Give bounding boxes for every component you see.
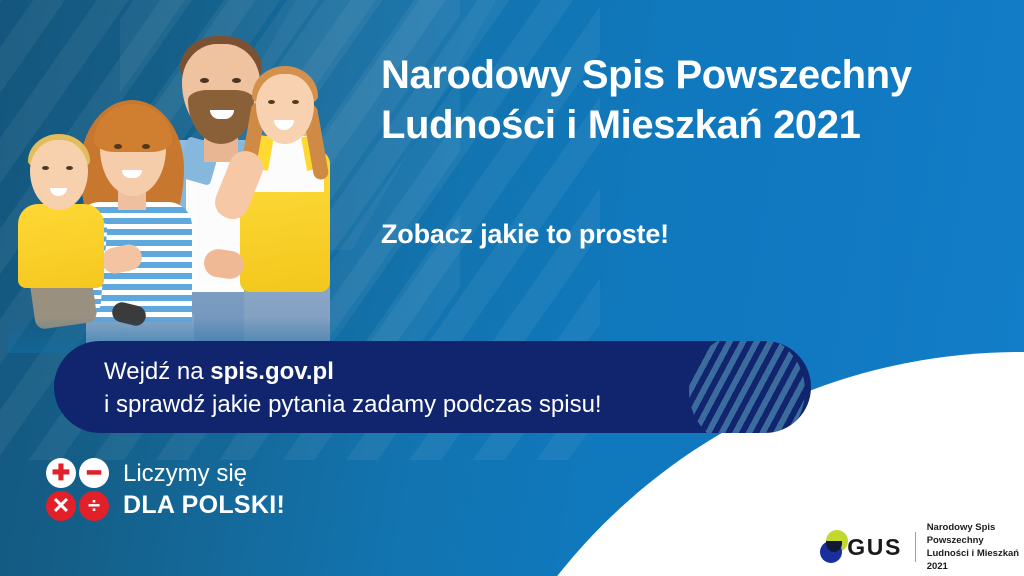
slogan-text: Liczymy się DLA POLSKI! — [123, 459, 285, 521]
boy-yellow-shirt — [18, 204, 104, 288]
family-photo — [8, 18, 356, 353]
divide-icon: ÷ — [79, 491, 109, 521]
father-eye-left — [200, 78, 209, 83]
slogan-line-2: DLA POLSKI! — [123, 489, 285, 521]
headline-line-2: Ludności i Mieszkań 2021 — [381, 100, 981, 150]
father-eye-right — [232, 78, 241, 83]
gus-mark-icon — [818, 530, 842, 564]
page-title: Narodowy Spis Powszechny Ludności i Mies… — [381, 50, 981, 150]
boy-eye-right — [66, 166, 73, 170]
mother-eye-left — [114, 144, 122, 149]
logo-divider — [915, 532, 916, 562]
multiply-icon: ✕ — [46, 491, 76, 521]
gus-logo: GUS Narodowy Spis Powszechny Ludności i … — [818, 521, 1024, 573]
operator-icons-group: ✚ ━ ✕ ÷ — [46, 458, 109, 521]
callout-stripes-circle — [689, 341, 805, 433]
callout-prefix: Wejdź na — [104, 358, 210, 385]
callout-line-1: Wejdź na spis.gov.pl — [104, 355, 602, 388]
callout-banner[interactable]: Wejdź na spis.gov.pl i sprawdź jakie pyt… — [54, 341, 811, 433]
girl-eye-right — [292, 100, 299, 104]
callout-line-2: i sprawdź jakie pytania zadamy podczas s… — [104, 388, 602, 421]
plus-icon: ✚ — [46, 458, 76, 488]
gus-tagline-line-1: Narodowy Spis Powszechny — [927, 521, 1024, 547]
gus-tagline: Narodowy Spis Powszechny Ludności i Mies… — [927, 521, 1024, 573]
girl-eye-left — [268, 100, 275, 104]
mother-eye-right — [142, 144, 150, 149]
subheadline: Zobacz jakie to proste! — [381, 219, 669, 250]
nsp-2021-banner: Narodowy Spis Powszechny Ludności i Mies… — [0, 0, 1024, 576]
minus-icon: ━ — [79, 458, 109, 488]
callout-url[interactable]: spis.gov.pl — [210, 358, 334, 385]
callout-text: Wejdź na spis.gov.pl i sprawdź jakie pyt… — [104, 355, 602, 421]
gus-tagline-line-2: Ludności i Mieszkań 2021 — [927, 547, 1024, 573]
gus-wordmark: GUS — [847, 534, 902, 561]
slogan-block: ✚ ━ ✕ ÷ Liczymy się DLA POLSKI! — [46, 458, 285, 521]
boy-head — [30, 140, 88, 210]
slogan-line-1: Liczymy się — [123, 459, 285, 489]
boy-eye-left — [42, 166, 49, 170]
headline-line-1: Narodowy Spis Powszechny — [381, 53, 912, 97]
